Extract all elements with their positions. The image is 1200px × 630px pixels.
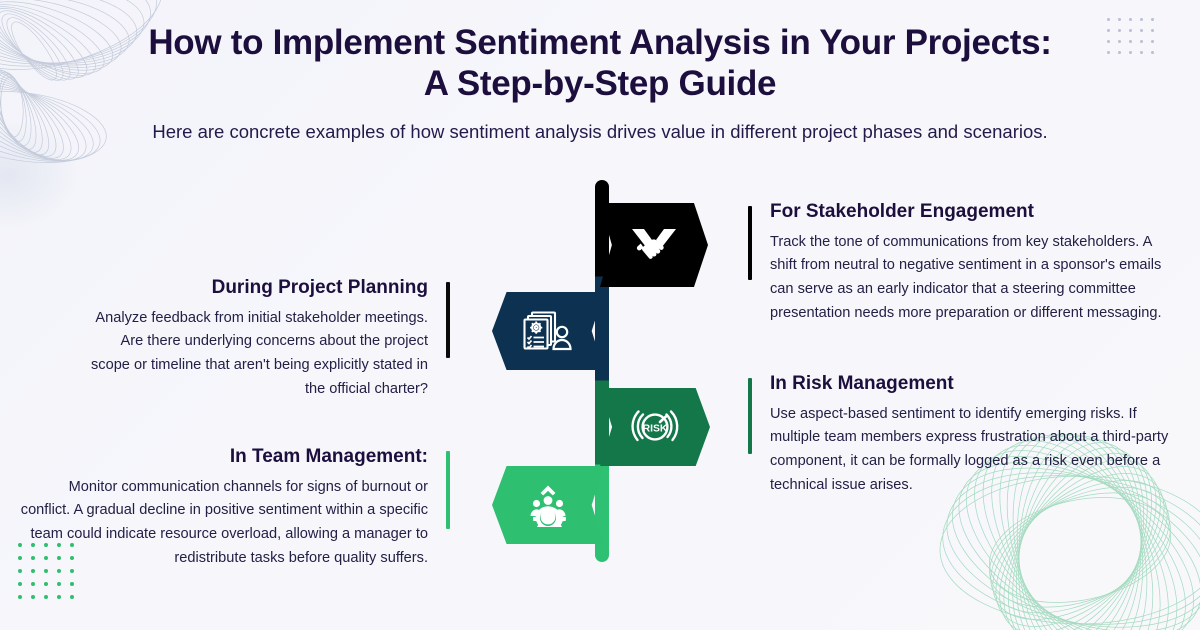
banner-project-planning[interactable] xyxy=(492,292,604,370)
page-subtitle: Here are concrete examples of how sentim… xyxy=(0,121,1200,143)
content-block-risk-management: In Risk Management Use aspect-based sent… xyxy=(748,372,1178,497)
page-title: How to Implement Sentiment Analysis in Y… xyxy=(0,22,1200,105)
risk-gauge-label: RISK xyxy=(643,424,668,435)
block-body-stakeholder: Track the tone of communications from ke… xyxy=(770,231,1178,326)
accent-bar-risk xyxy=(748,378,752,454)
risk-gauge-icon: RISK xyxy=(626,404,684,450)
block-heading-team: In Team Management: xyxy=(20,445,428,469)
banner-team-management[interactable] xyxy=(492,466,604,544)
block-heading-planning: During Project Planning xyxy=(80,276,428,300)
header: How to Implement Sentiment Analysis in Y… xyxy=(0,0,1200,143)
block-body-team: Monitor communication channels for signs… xyxy=(20,476,428,571)
content-block-team-management: In Team Management: Monitor communicatio… xyxy=(20,445,450,570)
page-title-line-1: How to Implement Sentiment Analysis in Y… xyxy=(148,23,1051,62)
block-heading-risk: In Risk Management xyxy=(770,372,1178,396)
page-title-line-2: A Step-by-Step Guide xyxy=(424,64,776,103)
banner-risk-management[interactable]: RISK xyxy=(600,388,710,466)
handshake-icon xyxy=(630,225,678,265)
block-body-planning: Analyze feedback from initial stakeholde… xyxy=(80,307,428,402)
accent-bar-planning xyxy=(446,282,450,358)
banner-stakeholder-engagement[interactable] xyxy=(600,203,708,287)
block-body-risk: Use aspect-based sentiment to identify e… xyxy=(770,403,1178,498)
accent-bar-stakeholder xyxy=(748,206,752,280)
team-gear-icon xyxy=(525,483,571,527)
block-heading-stakeholder: For Stakeholder Engagement xyxy=(770,200,1178,224)
timeline-pole xyxy=(595,180,609,562)
content-block-project-planning: During Project Planning Analyze feedback… xyxy=(80,276,450,401)
project-plan-document-icon xyxy=(520,309,576,353)
content-block-stakeholder-engagement: For Stakeholder Engagement Track the ton… xyxy=(748,200,1178,325)
accent-bar-team xyxy=(446,451,450,529)
